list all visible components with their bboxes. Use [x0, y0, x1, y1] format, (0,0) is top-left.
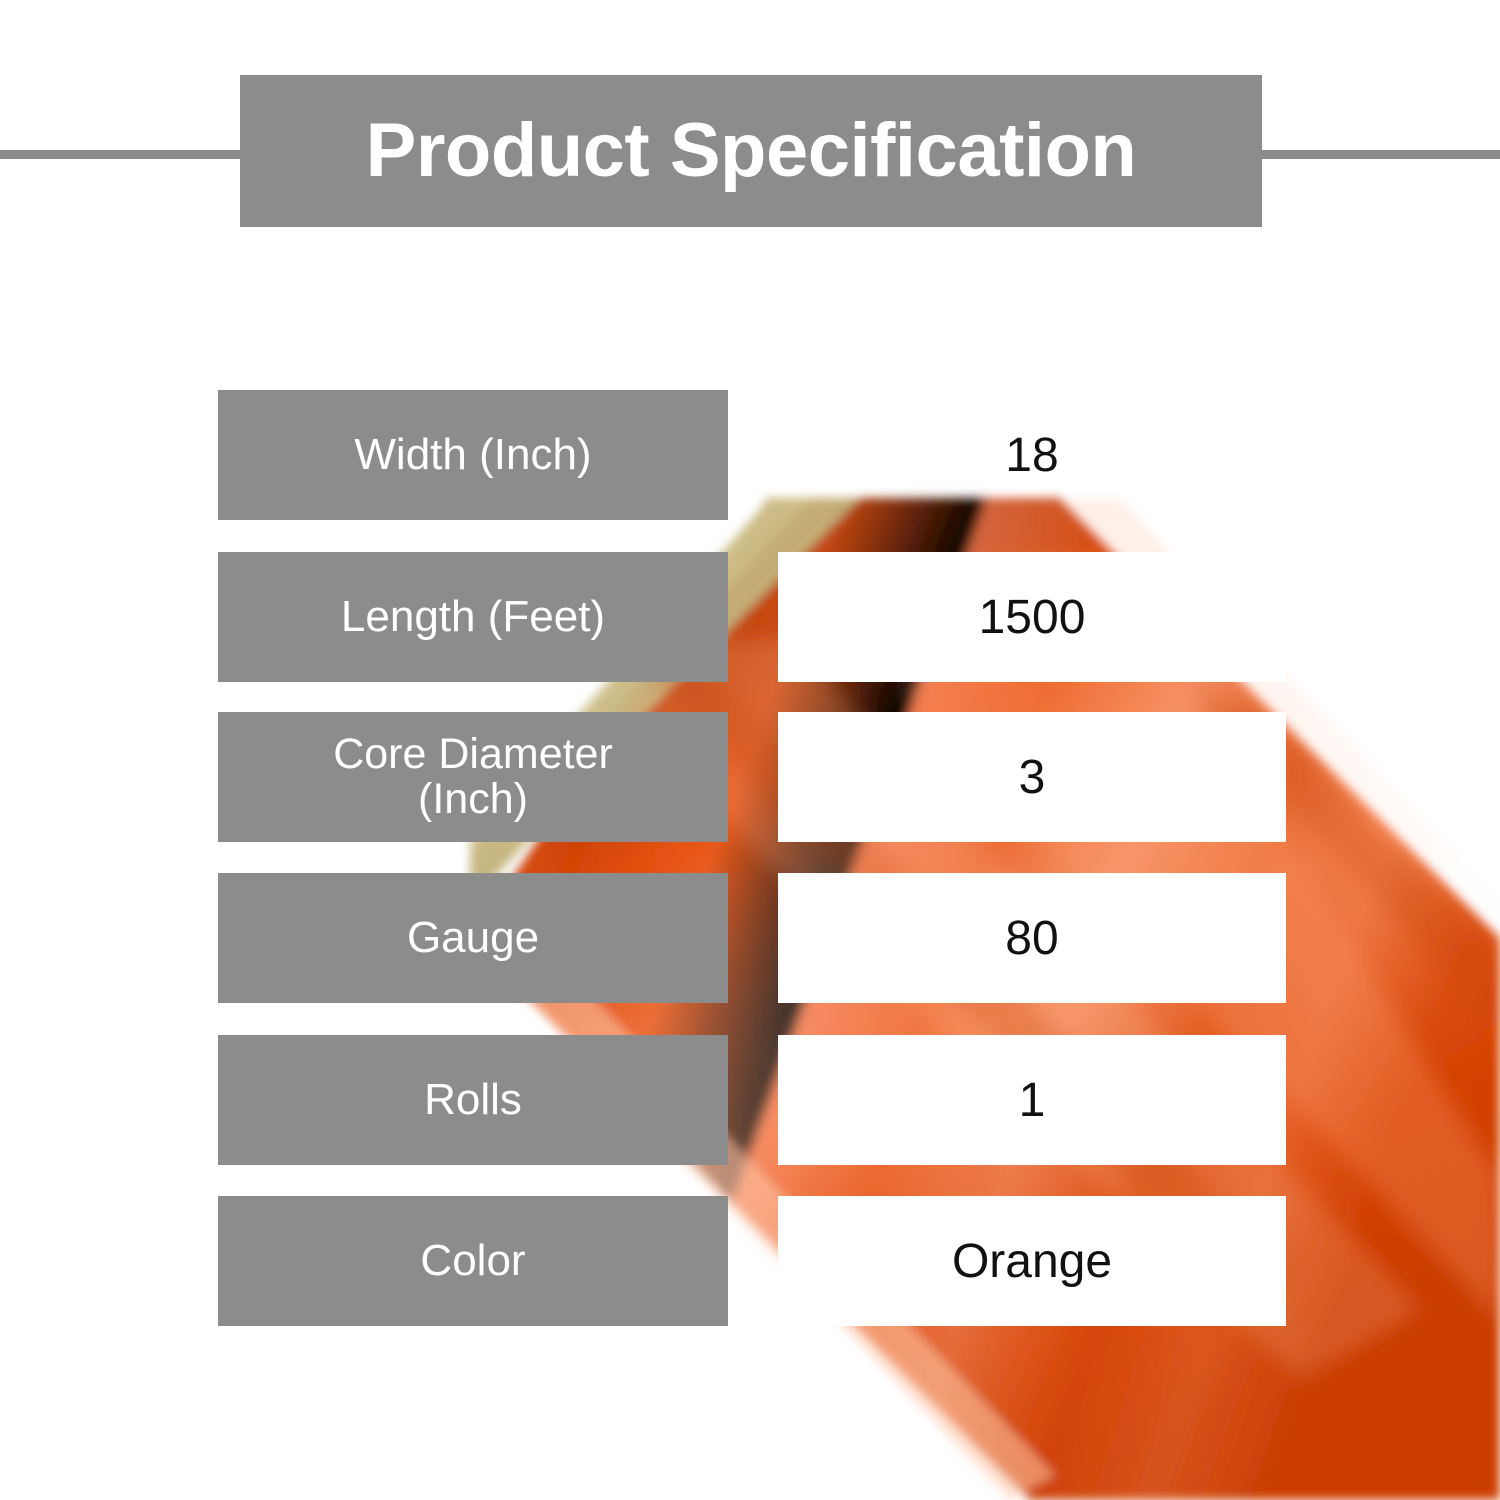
table-row: Length (Feet) 1500 [0, 552, 1500, 682]
table-row: Core Diameter(Inch) 3 [0, 712, 1500, 842]
table-row: Rolls 1 [0, 1035, 1500, 1165]
table-row: Color Orange [0, 1196, 1500, 1326]
spec-label-length: Length (Feet) [218, 552, 728, 682]
spec-value-core-diameter: 3 [778, 712, 1286, 842]
spec-label-color: Color [218, 1196, 728, 1326]
spec-label-core-diameter: Core Diameter(Inch) [218, 712, 728, 842]
spec-value-width: 18 [778, 390, 1286, 520]
table-row: Gauge 80 [0, 873, 1500, 1003]
spec-value-gauge: 80 [778, 873, 1286, 1003]
spec-value-length: 1500 [778, 552, 1286, 682]
table-row: Width (Inch) 18 [0, 390, 1500, 520]
spec-label-width: Width (Inch) [218, 390, 728, 520]
product-specification-page: Product Specification Width (Inch) 18 Le… [0, 0, 1500, 1500]
specification-table: Width (Inch) 18 Length (Feet) 1500 Core … [0, 0, 1500, 1500]
spec-label-rolls: Rolls [218, 1035, 728, 1165]
spec-value-rolls: 1 [778, 1035, 1286, 1165]
spec-label-gauge: Gauge [218, 873, 728, 1003]
spec-value-color: Orange [778, 1196, 1286, 1326]
